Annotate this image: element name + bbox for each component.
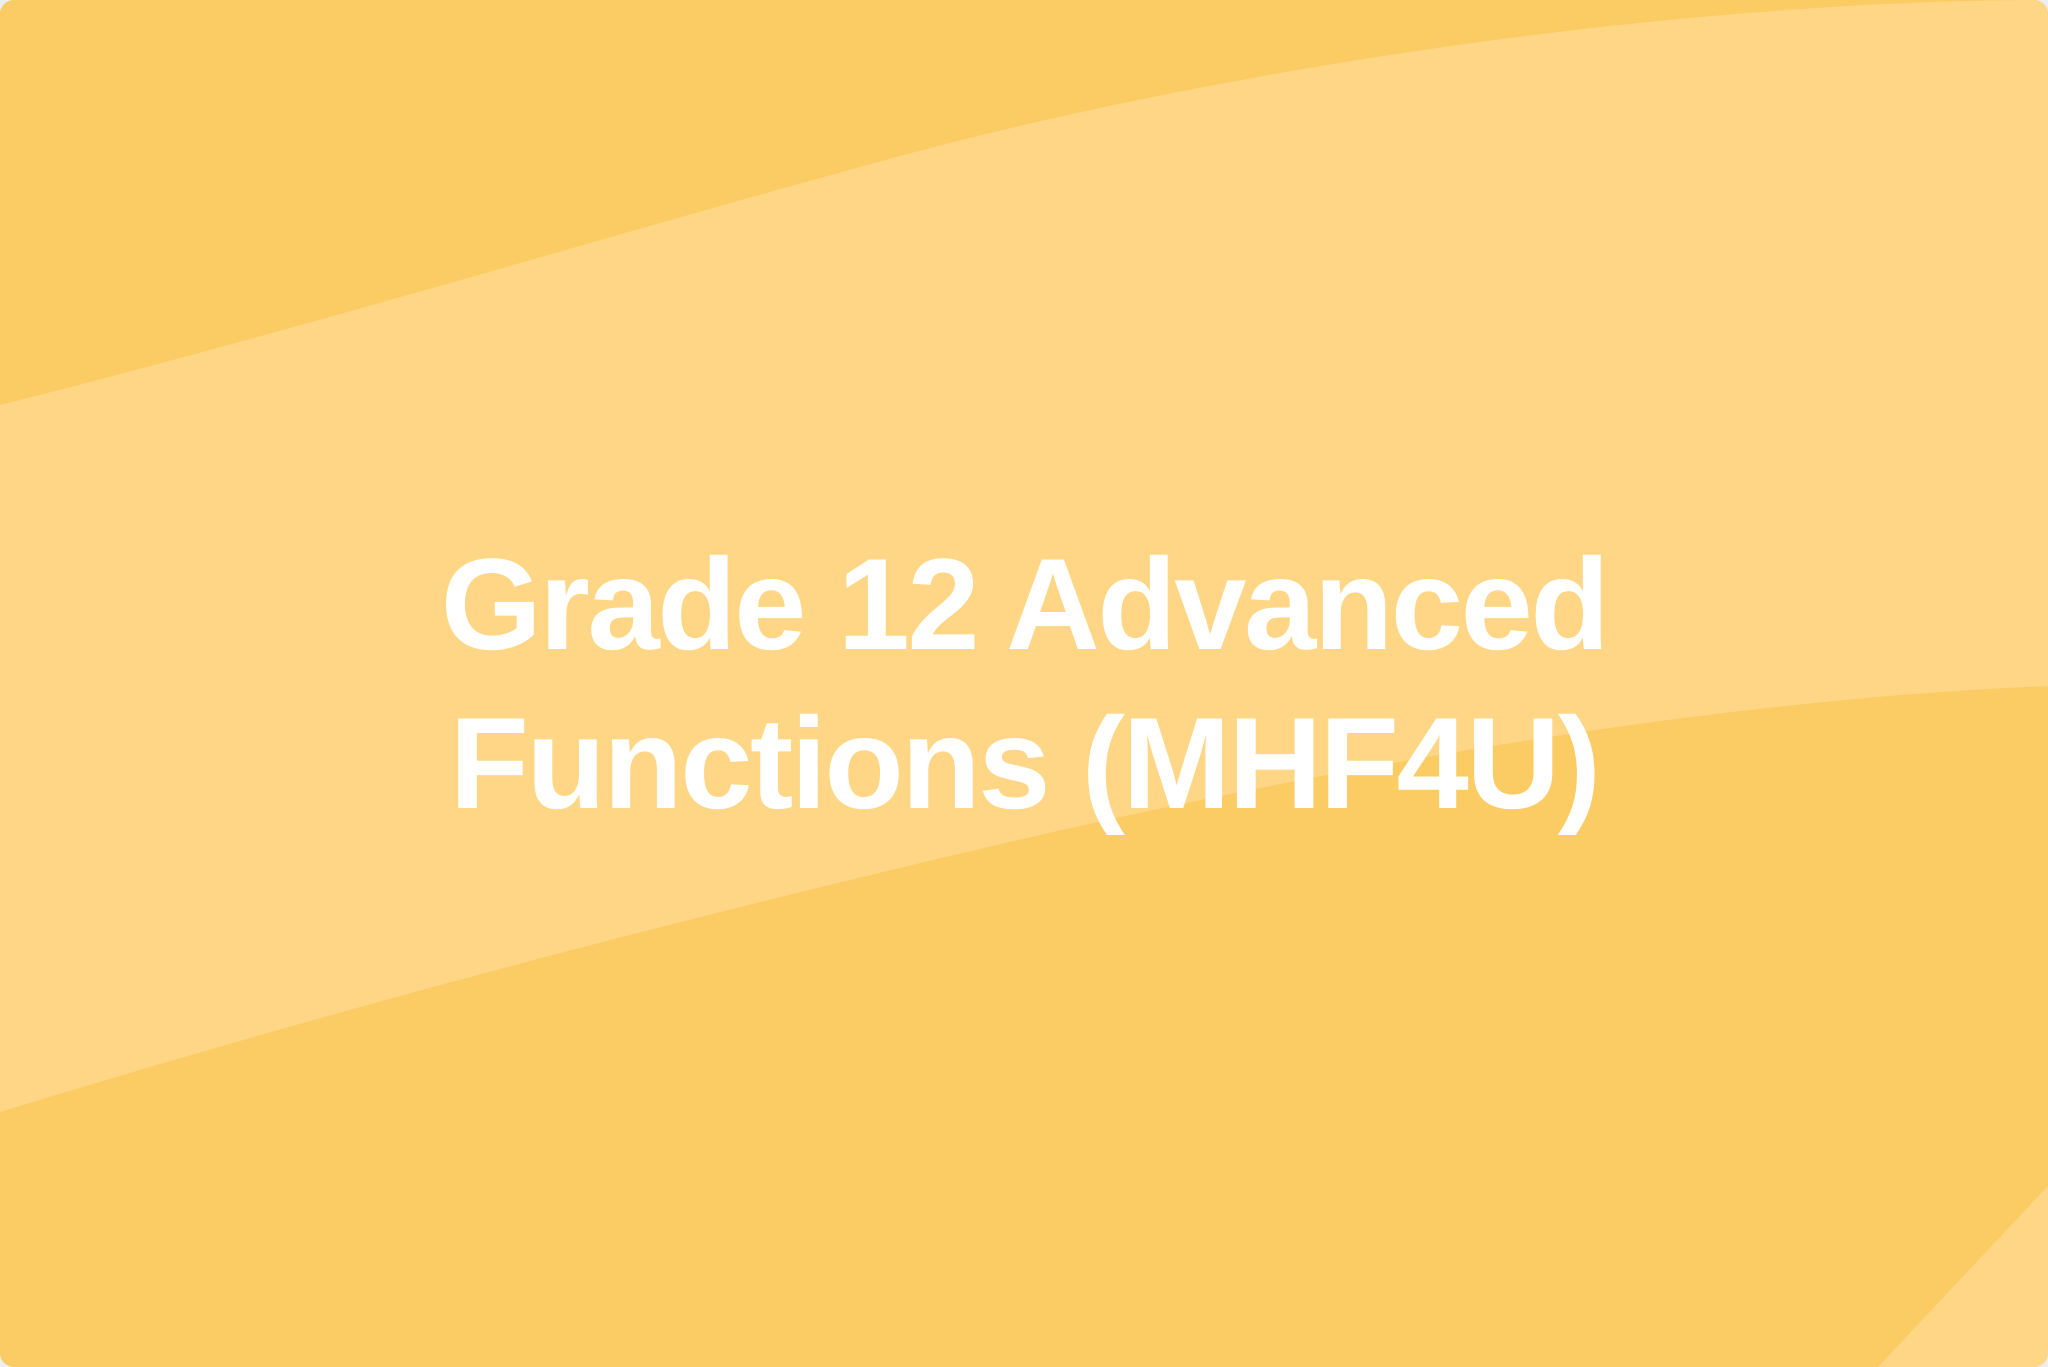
page-title: Grade 12 Advanced Functions (MHF4U) [354, 525, 1694, 842]
card-title-container: Grade 12 Advanced Functions (MHF4U) [0, 0, 2048, 1367]
course-card[interactable]: Grade 12 Advanced Functions (MHF4U) [0, 0, 2048, 1367]
